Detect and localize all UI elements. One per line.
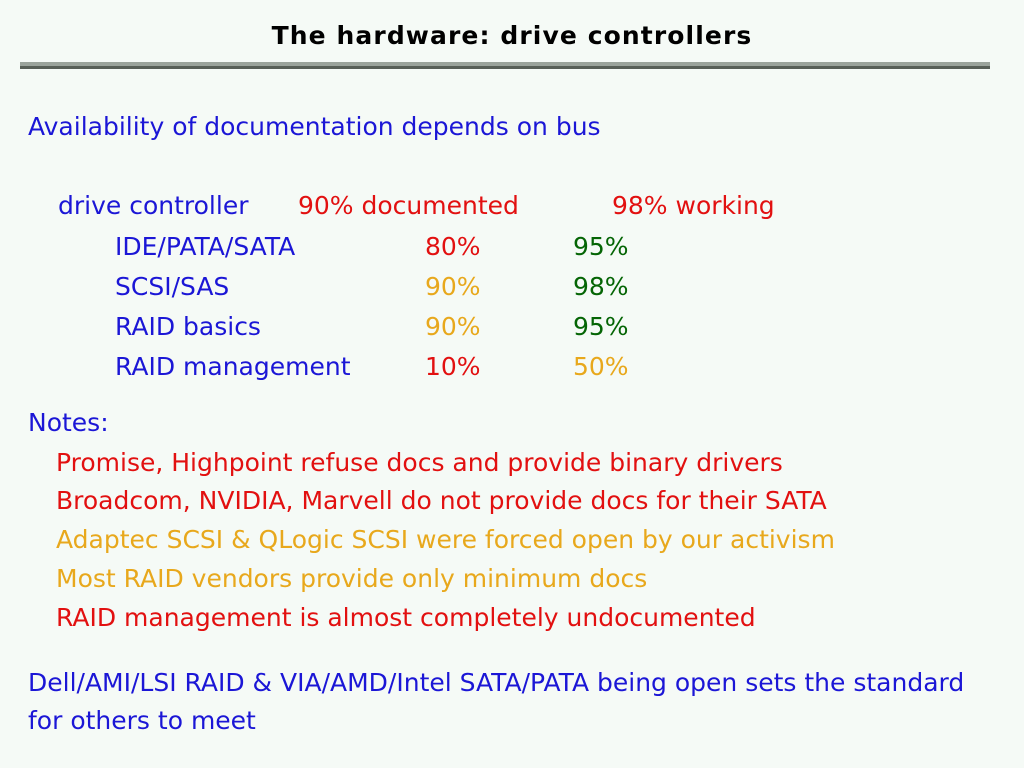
row-documented: 10% [425,354,481,379]
row-working: 95% [573,314,629,339]
slide-canvas: The hardware: drive controllers Availabi… [0,0,1024,768]
note-item: Broadcom, NVIDIA, Marvell do not provide… [56,488,827,513]
note-item: RAID management is almost completely und… [56,605,756,630]
table-header-documented: 90% documented [298,193,519,218]
lead-statement: Availability of documentation depends on… [28,114,601,139]
note-item: Adaptec SCSI & QLogic SCSI were forced o… [56,527,835,552]
row-working: 95% [573,234,629,259]
note-item: Promise, Highpoint refuse docs and provi… [56,450,783,475]
row-documented: 80% [425,234,481,259]
table-row: SCSI/SAS 90% 98% [0,274,1024,308]
table-row: IDE/PATA/SATA 80% 95% [0,234,1024,268]
row-working: 50% [573,354,629,379]
row-label: RAID management [115,354,351,379]
table-row: RAID basics 90% 95% [0,314,1024,348]
row-label: IDE/PATA/SATA [115,234,295,259]
page-title: The hardware: drive controllers [0,22,1024,50]
table-header-name: drive controller [58,193,248,218]
row-label: SCSI/SAS [115,274,229,299]
row-label: RAID basics [115,314,261,339]
table-header-working: 98% working [612,193,775,218]
table-header-row: drive controller 90% documented 98% work… [0,193,1024,227]
title-block: The hardware: drive controllers [0,22,1024,50]
notes-label: Notes: [28,410,109,435]
title-divider [20,62,990,69]
table-row: RAID management 10% 50% [0,354,1024,388]
row-documented: 90% [425,274,481,299]
row-working: 98% [573,274,629,299]
note-item: Most RAID vendors provide only minimum d… [56,566,647,591]
closing-statement: Dell/AMI/LSI RAID & VIA/AMD/Intel SATA/P… [28,664,988,740]
row-documented: 90% [425,314,481,339]
